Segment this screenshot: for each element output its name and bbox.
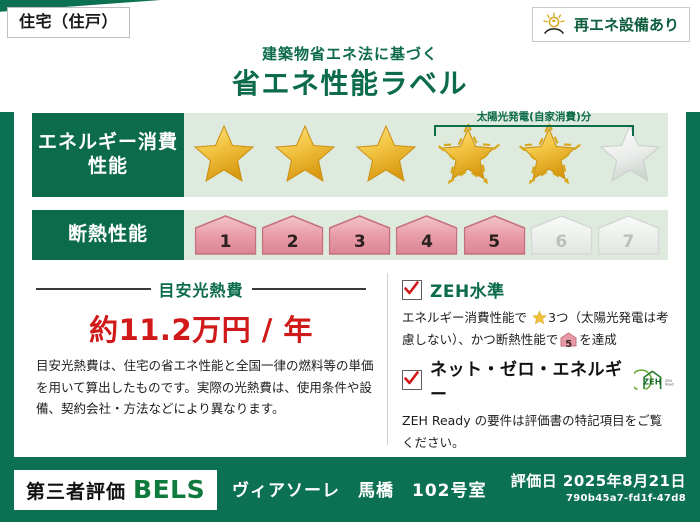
check-icon (404, 371, 419, 387)
insulation-level-4: 4 (395, 215, 458, 255)
utility-cost-title: 目安光熱費 (159, 277, 244, 301)
bels-jp-label: 第三者評価 (26, 477, 126, 504)
evaluation-info: 評価日 2025年8月21日 790b45a7-fd1f-47d8 (511, 470, 686, 504)
insulation-level-6: 6 (530, 215, 593, 255)
zeh-standard-header: ZEH水準 (402, 277, 674, 302)
insulation-performance-levels: 1234567 (184, 210, 668, 260)
net-zero-energy-checkbox[interactable] (402, 370, 422, 390)
label-title: 省エネ性能ラベル (0, 62, 700, 102)
insulation-level-number: 1 (220, 232, 232, 252)
bels-certification-box: 第三者評価 BELS (14, 470, 217, 510)
utility-cost-block: 目安光熱費 約11.2万円 / 年 (36, 277, 366, 349)
check-icon (404, 281, 419, 297)
insulation-level-2: 2 (261, 215, 324, 255)
svg-text:ZEH: ZEH (643, 377, 662, 387)
zeh-standard-block: ZEH水準 エネルギー消費性能で 3つ（太陽光発電は考慮しない）、かつ断熱性能で… (402, 277, 674, 350)
category-tab: 住宅（住戸） (7, 7, 130, 38)
svg-text:Ready: Ready (665, 383, 674, 387)
inline-house-badge-number: 5 (565, 339, 572, 350)
star-icon-4-solar (436, 123, 500, 185)
energy-performance-label: 住宅（住戸） 再エネ設備あり 建築物省エネ法に基づく 省エネ性能ラベル エネルギ… (0, 0, 700, 522)
insulation-performance-row: 断熱性能 1234567 (32, 210, 668, 260)
inline-gold-star-icon (532, 310, 547, 325)
zeh-standard-text-part1: エネルギー消費性能で (402, 310, 527, 325)
insulation-level-number: 3 (354, 232, 366, 252)
vertical-divider (387, 273, 388, 445)
star-icon-2 (273, 123, 337, 185)
utility-cost-title-row: 目安光熱費 (36, 277, 366, 301)
insulation-level-number: 5 (488, 232, 500, 252)
energy-performance-stars: 太陽光発電(自家消費)分 (184, 113, 668, 197)
label-footer: 第三者評価 BELS ヴィアソーレ 馬橋 102号室 評価日 2025年8月21… (0, 462, 700, 522)
insulation-level-number: 7 (622, 232, 634, 252)
net-zero-energy-block: ネット・ゼロ・エネルギー ZEH ZEH Ready ZEH Ready の要件… (402, 355, 674, 453)
insulation-performance-row-label: 断熱性能 (32, 210, 184, 260)
star-icon-5-solar (517, 123, 581, 185)
divider-line-right (252, 288, 367, 290)
renewable-energy-badge-label: 再エネ設備あり (574, 14, 679, 35)
energy-performance-row: エネルギー消費性能 太陽光発電(自家消費)分 (32, 113, 668, 197)
star-icon-3 (354, 123, 418, 185)
insulation-level-5: 5 (463, 215, 526, 255)
star-icon-1 (192, 123, 256, 185)
zeh-standard-text: エネルギー消費性能で 3つ（太陽光発電は考慮しない）、かつ断熱性能で 5 を達成 (402, 307, 674, 350)
insulation-level-number: 6 (555, 232, 567, 252)
net-zero-energy-text: ZEH Ready の要件は評価書の特記項目をご覧ください。 (402, 410, 674, 453)
net-zero-energy-title: ネット・ゼロ・エネルギー (430, 355, 623, 405)
divider-line-left (36, 288, 151, 290)
solar-sun-icon (541, 12, 567, 36)
insulation-level-3: 3 (328, 215, 391, 255)
label-card: エネルギー消費性能 太陽光発電(自家消費)分 (14, 105, 686, 457)
evaluation-date: 評価日 2025年8月21日 (511, 470, 686, 491)
zeh-standard-checkbox[interactable] (402, 280, 422, 300)
label-subtitle: 建築物省エネ法に基づく (0, 43, 700, 64)
renewable-energy-badge: 再エネ設備あり (532, 7, 690, 42)
zeh-standard-title: ZEH水準 (430, 277, 505, 302)
insulation-level-number: 2 (287, 232, 299, 252)
insulation-level-7: 7 (597, 215, 660, 255)
insulation-level-1: 1 (194, 215, 257, 255)
bels-en-label: BELS (133, 475, 205, 504)
insulation-level-number: 4 (421, 232, 433, 252)
evaluation-id: 790b45a7-fd1f-47d8 (511, 493, 686, 504)
net-zero-energy-header: ネット・ゼロ・エネルギー ZEH ZEH Ready (402, 355, 674, 405)
inline-house-badge-5: 5 (560, 332, 577, 347)
zeh-standard-text-part3: を達成 (579, 332, 617, 347)
zeh-ready-logo-icon: ZEH ZEH Ready (634, 368, 674, 392)
energy-performance-row-label: エネルギー消費性能 (32, 113, 184, 197)
utility-cost-note: 目安光熱費は、住宅の省エネ性能と全国一律の燃料等の単価を用いて算出したものです。… (36, 355, 376, 420)
utility-cost-value: 約11.2万円 / 年 (36, 307, 366, 349)
property-name: ヴィアソーレ 馬橋 102号室 (232, 476, 487, 501)
star-icon-6-empty (598, 123, 662, 185)
